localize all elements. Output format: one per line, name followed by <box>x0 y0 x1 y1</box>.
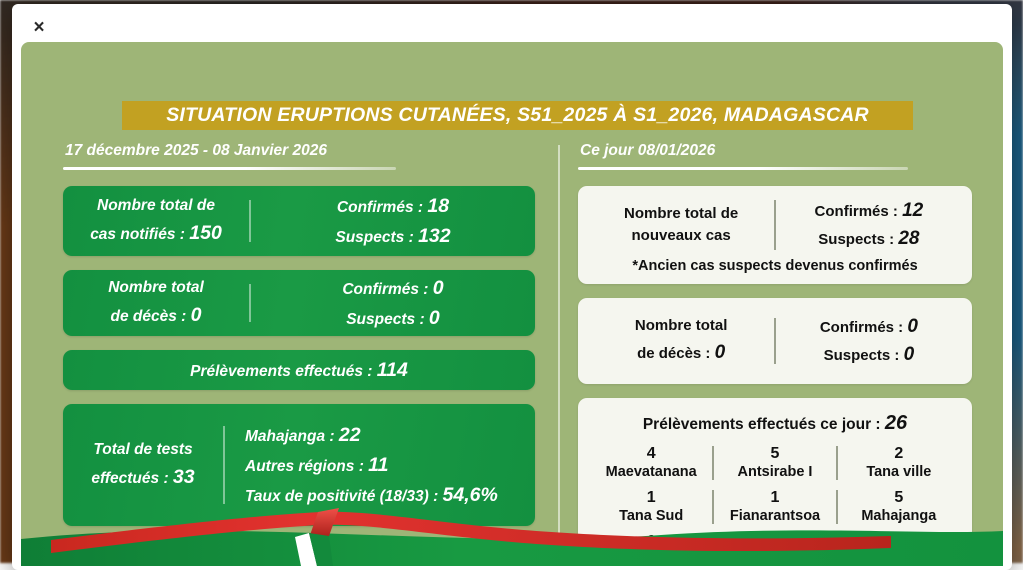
tests-mahajanga-value: 22 <box>339 424 361 446</box>
new-cases-confirmed-label: Confirmés : <box>815 203 903 220</box>
samples-value: 114 <box>377 359 408 381</box>
deaths-today-label-cell: Nombre total de décès : 0 <box>588 314 774 368</box>
deaths-confirmed-line: Confirmés : 0 <box>257 273 529 303</box>
deaths-label-line2: de décès : 0 <box>69 300 243 330</box>
samples-today-title: Prélèvements effectués ce jour : 26 <box>590 408 960 441</box>
new-cases-label-line2: nouveaux cas <box>594 225 768 248</box>
sample-district-name: Antsirabe I <box>716 464 834 481</box>
card-new-cases: Nombre total de nouveaux cas Confirmés :… <box>578 186 972 284</box>
new-cases-confirmed-line: Confirmés : 12 <box>782 197 956 226</box>
deaths-breakdown-cell: Confirmés : 0 Suspects : 0 <box>251 273 535 333</box>
tests-label-line1: Total de tests <box>69 438 217 462</box>
tests-other-regions-line: Autres régions : 11 <box>245 450 529 480</box>
sample-count: 5 <box>716 445 834 463</box>
page-title: SITUATION ERUPTIONS CUTANÉES, S51_2025 À… <box>166 104 869 127</box>
tests-positivity-value: 54,6% <box>443 484 498 506</box>
new-cases-suspects-value: 28 <box>898 228 919 249</box>
deaths-today-label-line2: de décès : 0 <box>594 338 768 368</box>
tests-label-line2: effectués : 33 <box>69 462 217 492</box>
right-section-heading: Ce jour 08/01/2026 <box>578 142 972 160</box>
new-cases-row: Nombre total de nouveaux cas Confirmés :… <box>588 198 962 252</box>
samples-row: 4 Maevatanana 5 Antsirabe I 2 Tana ville <box>590 441 960 485</box>
deaths-today-label-line2-prefix: de décès : <box>637 345 715 362</box>
card-samples-taken: Prélèvements effectués : 114 <box>63 350 535 390</box>
sample-count: 4 <box>592 445 710 463</box>
deaths-today-label-line1: Nombre total <box>594 314 768 338</box>
deaths-today-breakdown-cell: Confirmés : 0 Suspects : 0 <box>776 313 962 370</box>
sample-district-cell: 4 Maevatanana <box>590 441 712 485</box>
samples-today-title-label: Prélèvements effectués ce jour : <box>643 416 885 433</box>
deaths-suspects-value: 0 <box>429 307 440 329</box>
tests-label-line2-prefix: effectués : <box>91 470 173 487</box>
notified-suspects-label: Suspects : <box>335 229 418 246</box>
deaths-today-total-value: 0 <box>715 342 726 363</box>
sample-count: 2 <box>840 445 958 463</box>
sample-district-cell: 5 Antsirabe I <box>714 441 836 485</box>
notified-confirmed-label: Confirmés : <box>337 199 427 216</box>
tests-other-regions-value: 11 <box>368 454 388 476</box>
notified-suspects-line: Suspects : 132 <box>257 221 529 251</box>
new-cases-suspects-line: Suspects : 28 <box>782 225 956 254</box>
ribbon-svg <box>21 506 1003 566</box>
poster-title-banner: SITUATION ERUPTIONS CUTANÉES, S51_2025 À… <box>122 101 913 130</box>
deaths-today-suspects-label: Suspects : <box>824 347 904 364</box>
card-deaths-today: Nombre total de décès : 0 Confirmés : 0 … <box>578 298 972 384</box>
left-section-heading: 17 décembre 2025 - 08 Janvier 2026 <box>63 142 535 160</box>
deaths-label-line2-prefix: de décès : <box>111 308 191 325</box>
sample-district-name: Tana ville <box>840 464 958 481</box>
tests-other-regions-label: Autres régions : <box>245 458 368 475</box>
new-cases-confirmed-value: 12 <box>902 200 923 221</box>
tests-positivity-label: Taux de positivité (18/33) : <box>245 488 443 505</box>
flag-ribbon-decoration <box>21 506 1003 566</box>
modal-window: × SITUATION ERUPTIONS CUTANÉES, S51_2025… <box>12 4 1012 570</box>
new-cases-label-cell: Nombre total de nouveaux cas <box>588 203 774 248</box>
samples-label: Prélèvements effectués : <box>190 363 377 380</box>
deaths-suspects-line: Suspects : 0 <box>257 303 529 333</box>
tests-mahajanga-line: Mahajanga : 22 <box>245 420 529 450</box>
card-total-notified-cases: Nombre total de cas notifiés : 150 Confi… <box>63 186 535 256</box>
samples-line: Prélèvements effectués : 114 <box>190 355 408 385</box>
right-heading-rule <box>578 167 908 170</box>
deaths-today-confirmed-label: Confirmés : <box>820 319 908 336</box>
deaths-today-row: Nombre total de décès : 0 Confirmés : 0 … <box>588 312 962 370</box>
new-cases-footnote: *Ancien cas suspects devenus confirmés <box>588 258 962 274</box>
tests-total-value: 33 <box>173 466 195 488</box>
notified-confirmed-value: 18 <box>427 195 449 217</box>
notified-label-cell: Nombre total de cas notifiés : 150 <box>63 194 249 248</box>
notified-total-value: 150 <box>189 222 222 244</box>
close-icon[interactable]: × <box>26 14 52 40</box>
notified-label-line1: Nombre total de <box>69 194 243 218</box>
new-cases-breakdown-cell: Confirmés : 12 Suspects : 28 <box>776 197 962 254</box>
deaths-confirmed-label: Confirmés : <box>342 281 432 298</box>
deaths-today-confirmed-line: Confirmés : 0 <box>782 313 956 342</box>
column-divider <box>558 145 560 553</box>
notified-breakdown-cell: Confirmés : 18 Suspects : 132 <box>251 191 535 251</box>
deaths-label-cell: Nombre total de décès : 0 <box>63 276 249 330</box>
tests-breakdown-cell: Mahajanga : 22 Autres régions : 11 Taux … <box>225 420 535 511</box>
deaths-today-confirmed-value: 0 <box>907 316 918 337</box>
deaths-total-value: 0 <box>191 304 202 326</box>
deaths-confirmed-value: 0 <box>433 277 444 299</box>
sample-district-cell: 2 Tana ville <box>838 441 960 485</box>
deaths-today-suspects-line: Suspects : 0 <box>782 341 956 370</box>
notified-label-line2-prefix: cas notifiés : <box>90 226 189 243</box>
sample-count: 5 <box>840 489 958 507</box>
poster-panel: SITUATION ERUPTIONS CUTANÉES, S51_2025 À… <box>21 42 1003 566</box>
new-cases-label-line1: Nombre total de <box>594 203 768 226</box>
left-heading-rule <box>63 167 396 170</box>
right-column: Ce jour 08/01/2026 Nombre total de nouve… <box>578 142 972 566</box>
samples-today-total-value: 26 <box>885 412 907 434</box>
tests-label-cell: Total de tests effectués : 33 <box>63 438 223 492</box>
notified-suspects-value: 132 <box>418 225 451 247</box>
new-cases-suspects-label: Suspects : <box>818 231 898 248</box>
deaths-today-suspects-value: 0 <box>904 344 915 365</box>
left-column: 17 décembre 2025 - 08 Janvier 2026 Nombr… <box>63 142 535 526</box>
sample-district-name: Maevatanana <box>592 464 710 481</box>
sample-count: 1 <box>716 489 834 507</box>
deaths-suspects-label: Suspects : <box>346 311 429 328</box>
deaths-label-line1: Nombre total <box>69 276 243 300</box>
notified-label-line2: cas notifiés : 150 <box>69 218 243 248</box>
notified-confirmed-line: Confirmés : 18 <box>257 191 529 221</box>
sample-count: 1 <box>592 489 710 507</box>
tests-mahajanga-label: Mahajanga : <box>245 428 339 445</box>
card-total-deaths: Nombre total de décès : 0 Confirmés : 0 … <box>63 270 535 336</box>
